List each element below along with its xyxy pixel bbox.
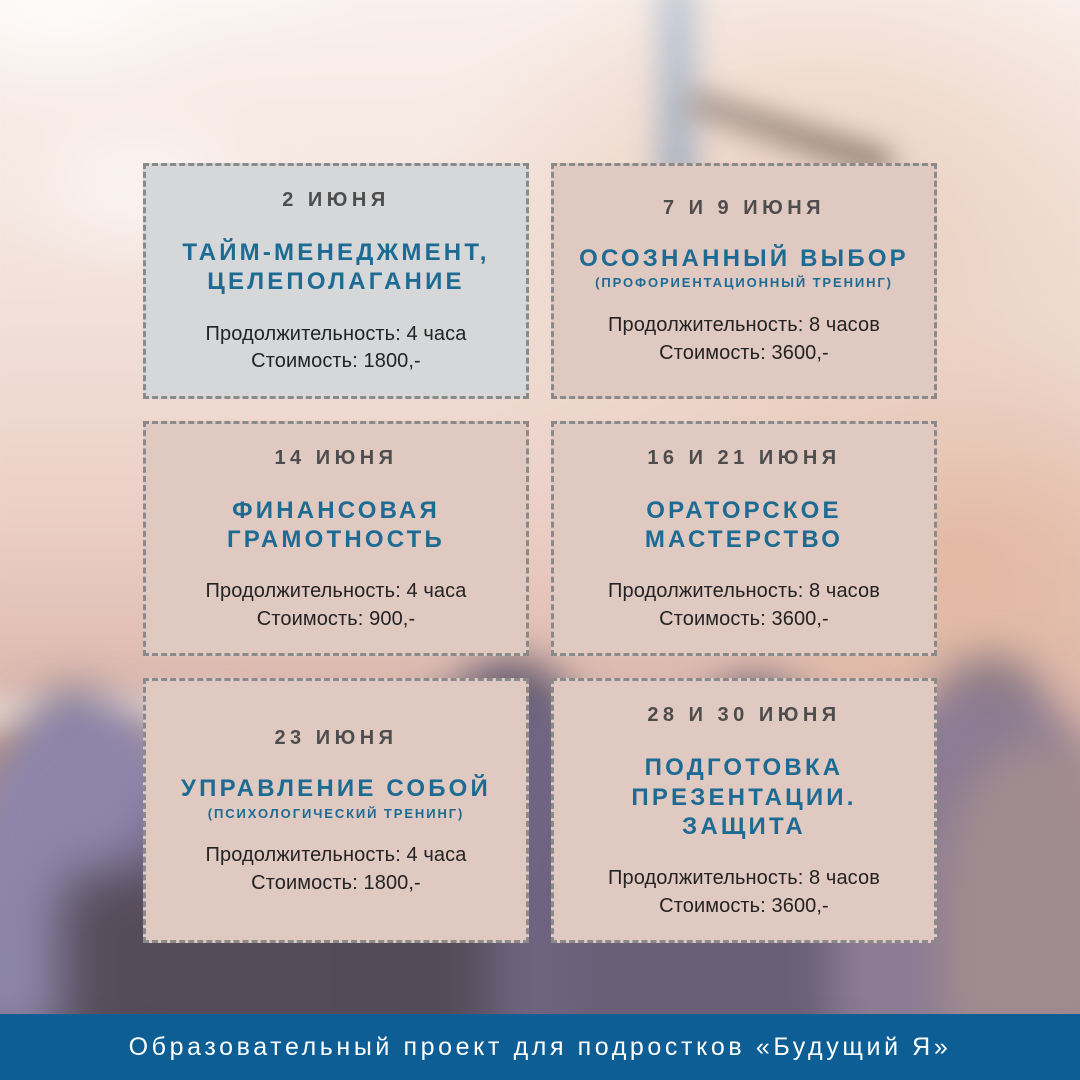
card-subtitle: (ПРОФОРИЕНТАЦИОННЫЙ ТРЕНИНГ)	[568, 275, 920, 292]
schedule-card: 23 ИЮНЯ УПРАВЛЕНИЕ СОБОЙ (ПСИХОЛОГИЧЕСКИ…	[143, 678, 529, 943]
schedule-card: 14 ИЮНЯ ФИНАНСОВАЯ ГРАМОТНОСТЬ Продолжит…	[143, 421, 529, 657]
card-duration: Продолжительность: 8 часов	[568, 865, 920, 893]
footer-banner: Образовательный проект для подростков «Б…	[0, 1014, 1080, 1080]
card-title: ПОДГОТОВКА ПРЕЗЕНТАЦИИ. ЗАЩИТА	[568, 753, 920, 841]
card-date: 16 И 21 ИЮНЯ	[568, 446, 920, 470]
card-title: ТАЙМ-МЕНЕДЖМЕНТ, ЦЕЛЕПОЛАГАНИЕ	[160, 238, 512, 297]
card-title: ОРАТОРСКОЕ МАСТЕРСТВО	[568, 496, 920, 555]
footer-banner-text: Образовательный проект для подростков «Б…	[129, 1033, 952, 1062]
card-duration: Продолжительность: 4 часа	[160, 842, 512, 870]
card-meta: Продолжительность: 4 часа Стоимость: 180…	[160, 842, 512, 897]
card-price: Стоимость: 3600,-	[568, 340, 920, 368]
card-meta: Продолжительность: 8 часов Стоимость: 36…	[568, 578, 920, 633]
card-duration: Продолжительность: 8 часов	[568, 312, 920, 340]
card-subtitle: (ПСИХОЛОГИЧЕСКИЙ ТРЕНИНГ)	[160, 806, 512, 823]
card-duration: Продолжительность: 4 часа	[160, 578, 512, 606]
card-title: ФИНАНСОВАЯ ГРАМОТНОСТЬ	[160, 496, 512, 555]
schedule-card: 28 И 30 ИЮНЯ ПОДГОТОВКА ПРЕЗЕНТАЦИИ. ЗАЩ…	[551, 678, 937, 943]
card-date: 23 ИЮНЯ	[160, 726, 512, 750]
card-price: Стоимость: 900,-	[160, 606, 512, 634]
card-price: Стоимость: 1800,-	[160, 348, 512, 376]
card-price: Стоимость: 3600,-	[568, 893, 920, 921]
card-date: 2 ИЮНЯ	[160, 188, 512, 212]
card-date: 14 ИЮНЯ	[160, 446, 512, 470]
card-title: ОСОЗНАННЫЙ ВЫБОР	[568, 244, 920, 273]
card-meta: Продолжительность: 8 часов Стоимость: 36…	[568, 312, 920, 367]
card-price: Стоимость: 1800,-	[160, 870, 512, 898]
card-meta: Продолжительность: 4 часа Стоимость: 900…	[160, 578, 512, 633]
card-duration: Продолжительность: 8 часов	[568, 578, 920, 606]
card-meta: Продолжительность: 4 часа Стоимость: 180…	[160, 321, 512, 376]
schedule-card: 16 И 21 ИЮНЯ ОРАТОРСКОЕ МАСТЕРСТВО Продо…	[551, 421, 937, 657]
card-date: 28 И 30 ИЮНЯ	[568, 703, 920, 727]
card-price: Стоимость: 3600,-	[568, 606, 920, 634]
schedule-card-grid: 2 ИЮНЯ ТАЙМ-МЕНЕДЖМЕНТ, ЦЕЛЕПОЛАГАНИЕ Пр…	[143, 163, 937, 943]
poster-root: 2 ИЮНЯ ТАЙМ-МЕНЕДЖМЕНТ, ЦЕЛЕПОЛАГАНИЕ Пр…	[0, 0, 1080, 1080]
schedule-card: 2 ИЮНЯ ТАЙМ-МЕНЕДЖМЕНТ, ЦЕЛЕПОЛАГАНИЕ Пр…	[143, 163, 529, 399]
schedule-card: 7 И 9 ИЮНЯ ОСОЗНАННЫЙ ВЫБОР (ПРОФОРИЕНТА…	[551, 163, 937, 399]
card-duration: Продолжительность: 4 часа	[160, 321, 512, 349]
card-meta: Продолжительность: 8 часов Стоимость: 36…	[568, 865, 920, 920]
card-date: 7 И 9 ИЮНЯ	[568, 196, 920, 220]
card-title: УПРАВЛЕНИЕ СОБОЙ	[160, 774, 512, 803]
